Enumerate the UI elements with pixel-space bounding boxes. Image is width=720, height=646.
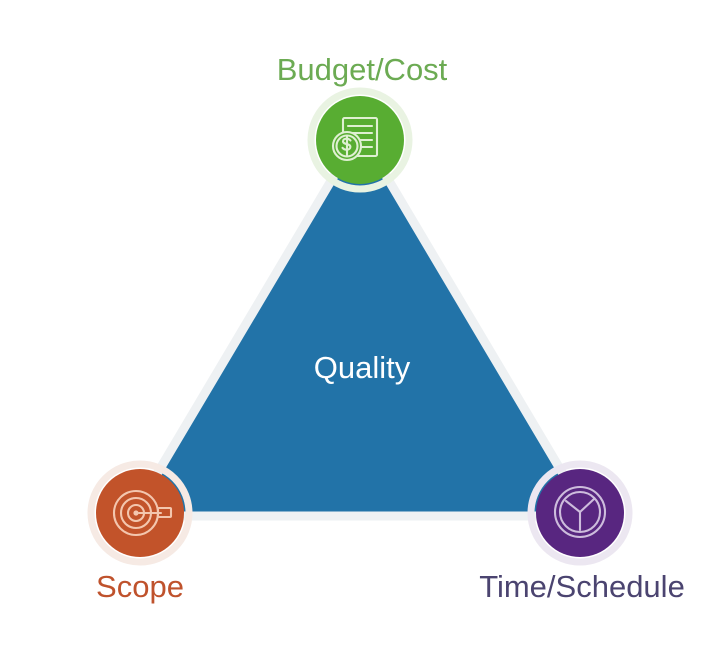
node-scope[interactable] [91, 464, 189, 562]
node-time[interactable] [531, 464, 629, 562]
project-triangle-diagram: Quality Budget/Cost [0, 0, 720, 646]
scope-label: Scope [96, 569, 184, 604]
budget-label: Budget/Cost [277, 52, 448, 87]
time-label: Time/Schedule [479, 569, 685, 604]
quality-center-label: Quality [314, 350, 411, 385]
node-budget[interactable] [311, 91, 409, 189]
